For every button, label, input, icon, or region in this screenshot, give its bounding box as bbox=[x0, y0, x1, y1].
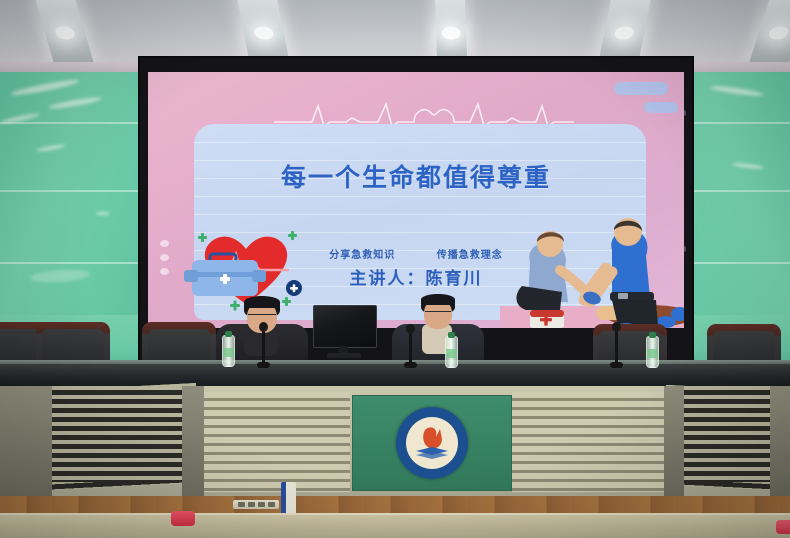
slide-subtitle-row: 分享急救知识 传播急救理念 bbox=[148, 246, 684, 261]
stage-riser-left bbox=[0, 386, 52, 498]
slide-subtitle-right: 传播急救理念 bbox=[437, 246, 503, 261]
school-crest-plaque bbox=[352, 395, 512, 491]
water-bottle bbox=[222, 335, 235, 367]
slide-subtitle-left: 分享急救知识 bbox=[329, 246, 395, 261]
slide-title: 每一个生命都值得尊重 bbox=[148, 158, 684, 194]
stage-front-face bbox=[0, 515, 790, 538]
presentation-slide: 每一个生命都值得尊重 分享急救知识 传播急救理念 主讲人：陈育川 bbox=[148, 72, 684, 328]
stage-riser-mid-left bbox=[182, 386, 204, 498]
stage-riser-right bbox=[770, 386, 790, 498]
recessed-ceiling-light bbox=[749, 0, 790, 62]
red-cylinder-object bbox=[171, 511, 195, 526]
red-cylinder-object bbox=[776, 520, 790, 534]
ceiling-spot-light bbox=[54, 26, 77, 39]
ceiling-spot-light bbox=[613, 26, 635, 39]
ceiling-spot-light bbox=[253, 26, 275, 39]
gooseneck-microphone bbox=[409, 332, 412, 364]
table-slats-right bbox=[512, 392, 664, 492]
crest-artwork bbox=[396, 407, 468, 479]
table-slats-center bbox=[200, 392, 350, 492]
recessed-ceiling-light bbox=[599, 0, 652, 62]
recessed-ceiling-light bbox=[237, 0, 290, 62]
head-table-surface bbox=[0, 364, 790, 386]
slide-speaker-line: 主讲人：陈育川 bbox=[148, 264, 684, 289]
recessed-ceiling-light bbox=[35, 0, 94, 62]
power-strip bbox=[233, 500, 279, 509]
riser-steps-left bbox=[52, 386, 182, 482]
right-speaker-glasses bbox=[425, 311, 451, 316]
water-bottle bbox=[646, 336, 659, 368]
ceiling-spot-light bbox=[441, 26, 460, 39]
gooseneck-microphone bbox=[615, 330, 618, 364]
gooseneck-microphone bbox=[262, 330, 265, 364]
person-right-speaker bbox=[390, 294, 486, 368]
photo-scene: 每一个生命都值得尊重 分享急救知识 传播急救理念 主讲人：陈育川 bbox=[0, 0, 790, 538]
stage-riser-mid-right bbox=[664, 386, 684, 498]
desktop-monitor bbox=[313, 305, 375, 357]
school-crest-emblem bbox=[396, 407, 468, 479]
recessed-ceiling-light bbox=[435, 0, 467, 62]
water-bottle bbox=[445, 336, 458, 368]
left-speaker-fringe bbox=[244, 296, 280, 308]
riser-steps-right bbox=[684, 386, 770, 482]
left-speaker-glasses bbox=[248, 314, 276, 319]
right-speaker-fringe bbox=[421, 294, 455, 305]
ceiling-spot-light bbox=[767, 26, 790, 39]
